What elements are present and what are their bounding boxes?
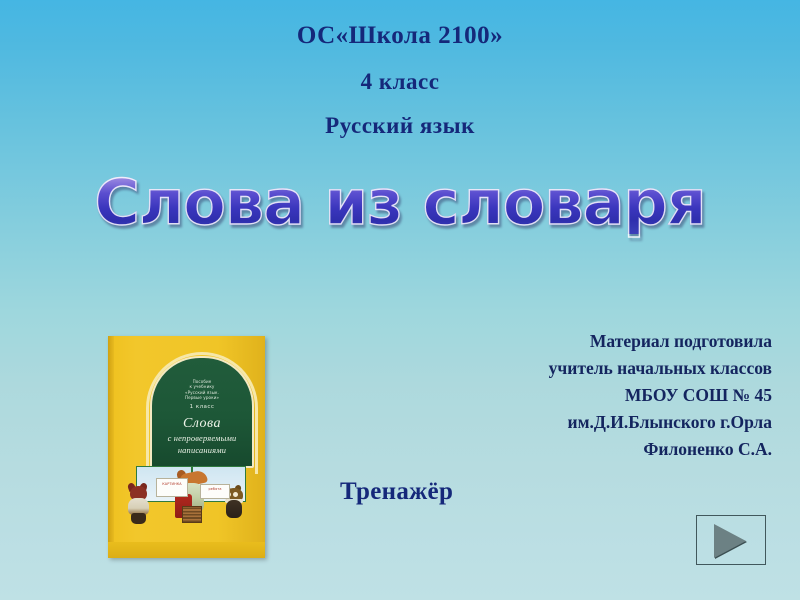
book-cover-image: Пособие к учебнику «Русский язык. Первые…: [108, 336, 265, 558]
cartoon-character-left: [126, 486, 156, 524]
eye-icon: [233, 492, 238, 497]
book-title-line-2: с непроверяемыми: [152, 434, 252, 443]
book-title-line-1: Слова: [152, 416, 252, 432]
author-credit-block: Материал подготовила учитель начальных к…: [352, 328, 772, 463]
subject-line: Русский язык: [0, 113, 800, 139]
character-sign-right: ребята: [200, 484, 230, 499]
body-shape: [226, 500, 242, 518]
author-line-1: Материал подготовила: [352, 328, 772, 355]
trainer-label: Тренажёр: [340, 478, 453, 506]
book-grade-label: 1 класс: [152, 404, 252, 410]
book-title-line-3: написаниями: [152, 446, 252, 455]
basket-shape: [182, 506, 202, 523]
presentation-slide: ОС«Школа 2100» 4 класс Русский язык Слов…: [0, 0, 800, 600]
chalkboard-panel: Пособие к учебнику «Русский язык. Первые…: [150, 356, 254, 468]
author-line-3: МБОУ СОШ № 45: [352, 382, 772, 409]
author-line-2: учитель начальных классов: [352, 355, 772, 382]
program-name-line: ОС«Школа 2100»: [0, 22, 800, 50]
page-title: Слова из словаря: [94, 172, 705, 234]
legs-shape: [131, 513, 146, 524]
next-slide-button[interactable]: [696, 515, 766, 565]
grade-line: 4 класс: [0, 69, 800, 95]
play-triangle-icon: [714, 524, 746, 558]
character-sign-left: КАРТИНКА: [156, 478, 188, 497]
author-line-4: им.Д.И.Блынского г.Орла: [352, 409, 772, 436]
book-subtitle-line-4: Первые уроки»: [152, 395, 252, 400]
book-illustration-scene: КАРТИНКА ребята: [122, 464, 254, 526]
author-line-5: Филоненко С.А.: [352, 436, 772, 463]
title-container: Слова из словаря: [0, 172, 800, 234]
book-bottom-band: [108, 542, 265, 558]
book-spine: [108, 336, 114, 558]
